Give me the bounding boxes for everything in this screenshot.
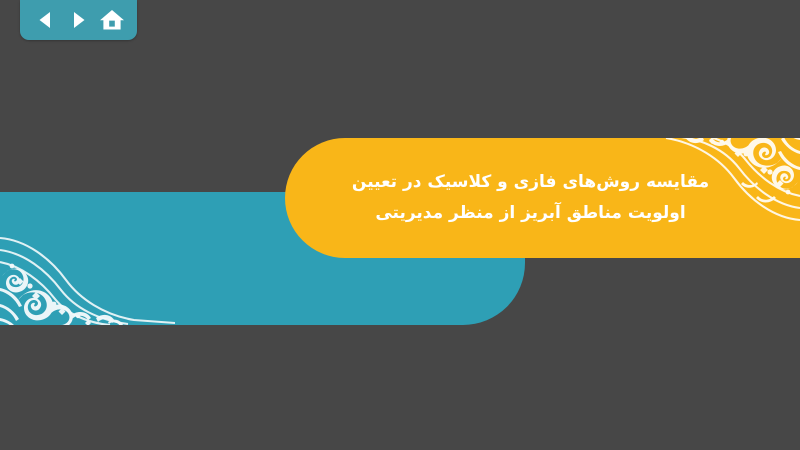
title-line-2: اولویت مناطق آبریز از منظر مدیریتی bbox=[375, 201, 685, 226]
home-button[interactable] bbox=[98, 6, 126, 34]
arabesque-corner-ornament bbox=[0, 192, 175, 325]
home-icon bbox=[99, 8, 125, 32]
triangle-right-icon bbox=[68, 9, 90, 31]
title-band: مقایسه روش‌های فازی و کلاسیک در تعیین او… bbox=[285, 138, 800, 258]
slide-canvas: مقایسه روش‌های فازی و کلاسیک در تعیین او… bbox=[0, 0, 800, 450]
page-title: مقایسه روش‌های فازی و کلاسیک در تعیین او… bbox=[285, 138, 800, 258]
navigation-toolbar bbox=[20, 0, 137, 40]
title-line-1: مقایسه روش‌های فازی و کلاسیک در تعیین bbox=[352, 170, 709, 195]
next-slide-button[interactable] bbox=[65, 6, 93, 34]
triangle-left-icon bbox=[34, 9, 56, 31]
previous-slide-button[interactable] bbox=[31, 6, 59, 34]
